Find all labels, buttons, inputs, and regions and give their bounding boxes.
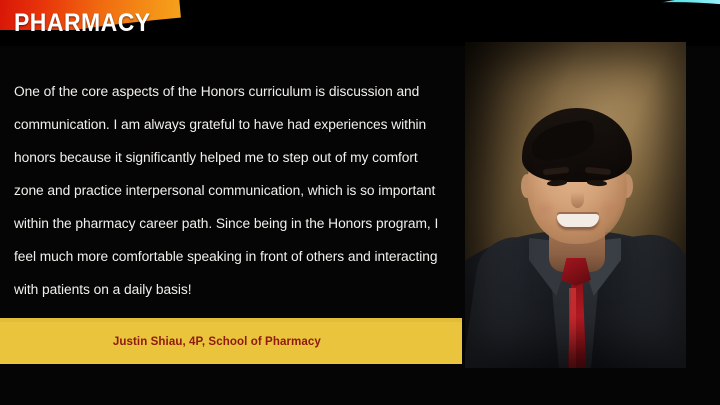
quote-text-block: One of the core aspects of the Honors cu… — [14, 76, 449, 307]
quote-paragraph: One of the core aspects of the Honors cu… — [14, 76, 449, 307]
slide-canvas: PHARMACY One of the core aspects of the … — [0, 0, 720, 405]
attribution-bar: Justin Shiau, 4P, School of Pharmacy — [0, 318, 462, 364]
photo-vignette — [465, 42, 686, 368]
page-title: PHARMACY — [14, 9, 151, 38]
attribution-text: Justin Shiau, 4P, School of Pharmacy — [113, 334, 321, 348]
portrait-photo — [465, 42, 686, 368]
